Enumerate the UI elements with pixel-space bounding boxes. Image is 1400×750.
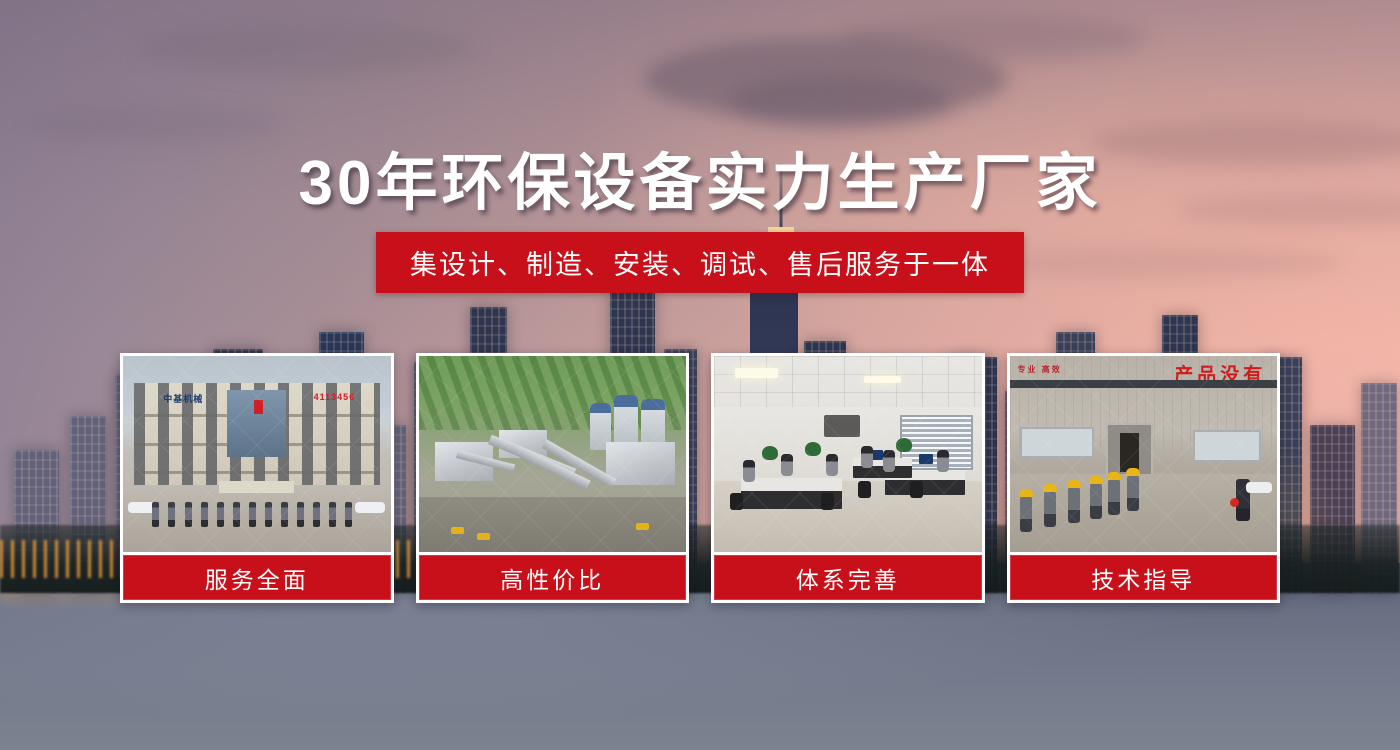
photo-worker-training: 产品没有 专业 高效 xyxy=(1010,356,1278,552)
feature-card[interactable]: 高性价比 xyxy=(416,353,690,603)
feature-card-list: 中基机械 4113456 xyxy=(120,353,1280,603)
card-caption: 体系完善 xyxy=(714,552,982,600)
photo-office-interior xyxy=(714,356,982,552)
photo-aggregate-plant xyxy=(419,356,687,552)
page-title: 30年环保设备实力生产厂家 xyxy=(0,132,1400,222)
red-helmet-icon xyxy=(1230,498,1239,507)
feature-card[interactable]: 中基机械 4113456 xyxy=(120,353,394,603)
factory-wall-slogan-small: 专业 高效 xyxy=(1018,364,1062,375)
feature-card[interactable]: 体系完善 xyxy=(711,353,985,603)
feature-card[interactable]: 产品没有 专业 高效 技术指导 xyxy=(1007,353,1281,603)
photo-office-building: 中基机械 4113456 xyxy=(123,356,391,552)
card-caption: 服务全面 xyxy=(123,552,391,600)
promo-banner: 30年环保设备实力生产厂家 集设计、制造、安装、调试、售后服务于一体 中基机械 … xyxy=(0,0,1400,750)
subtitle-banner: 集设计、制造、安装、调试、售后服务于一体 xyxy=(376,232,1024,293)
wall-logo xyxy=(824,415,860,437)
card-caption: 技术指导 xyxy=(1010,552,1278,600)
building-phone-number: 4113456 xyxy=(314,392,356,402)
building-company-sign: 中基机械 xyxy=(163,392,203,405)
card-caption: 高性价比 xyxy=(419,552,687,600)
